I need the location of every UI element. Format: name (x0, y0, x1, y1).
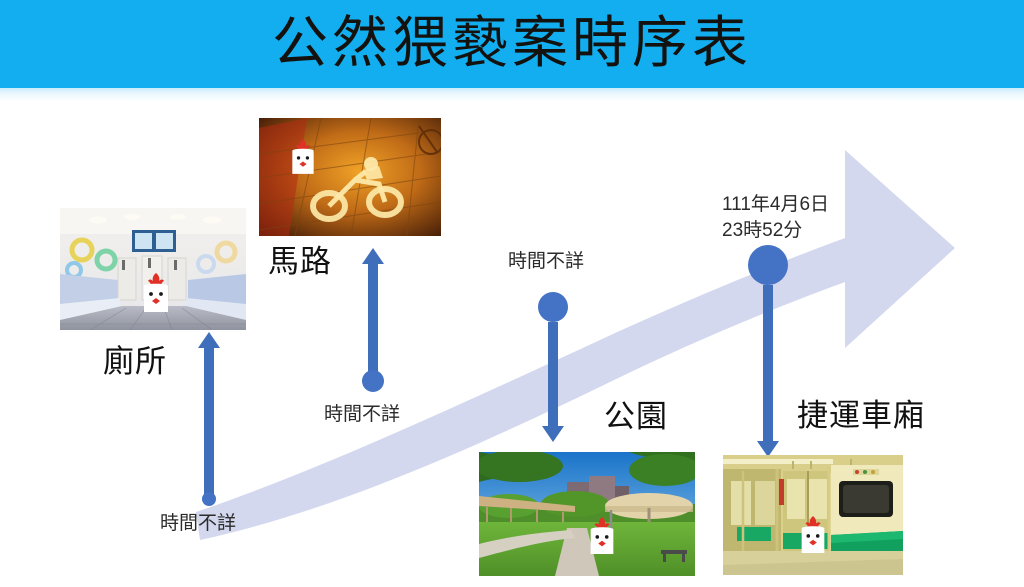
date-label-mrt-line2: 23時52分 (722, 218, 802, 244)
chicken-sticker (138, 270, 174, 316)
time-label-road: 時間不詳 (324, 403, 400, 427)
photo-toilet (60, 208, 246, 330)
stem-toilet (196, 332, 222, 500)
stem-road (360, 248, 386, 376)
time-label-toilet: 時間不詳 (160, 512, 236, 536)
place-label-park: 公園 (604, 399, 668, 435)
slide-canvas: 公然猥褻案時序表 (0, 0, 1024, 587)
photo-mrt (723, 455, 903, 575)
chicken-sticker (796, 513, 830, 557)
photo-park (479, 452, 695, 576)
stem-mrt (755, 285, 781, 457)
stem-park (540, 322, 566, 442)
place-label-mrt: 捷運車廂 (797, 398, 925, 434)
marker-road[interactable] (362, 370, 384, 392)
banner-gradient-edge (0, 88, 1024, 102)
place-label-toilet: 廁所 (103, 344, 167, 380)
place-label-road: 馬路 (268, 244, 332, 280)
chicken-sticker (585, 514, 619, 558)
marker-park[interactable] (538, 292, 568, 322)
chicken-sticker (287, 136, 319, 178)
date-label-mrt-line1: 111年4月6日 (722, 192, 829, 218)
page-title: 公然猥褻案時序表 (0, 6, 1024, 82)
marker-toilet[interactable] (202, 492, 216, 506)
time-label-park: 時間不詳 (508, 250, 584, 274)
photo-road (259, 118, 441, 236)
marker-mrt[interactable] (748, 245, 788, 285)
